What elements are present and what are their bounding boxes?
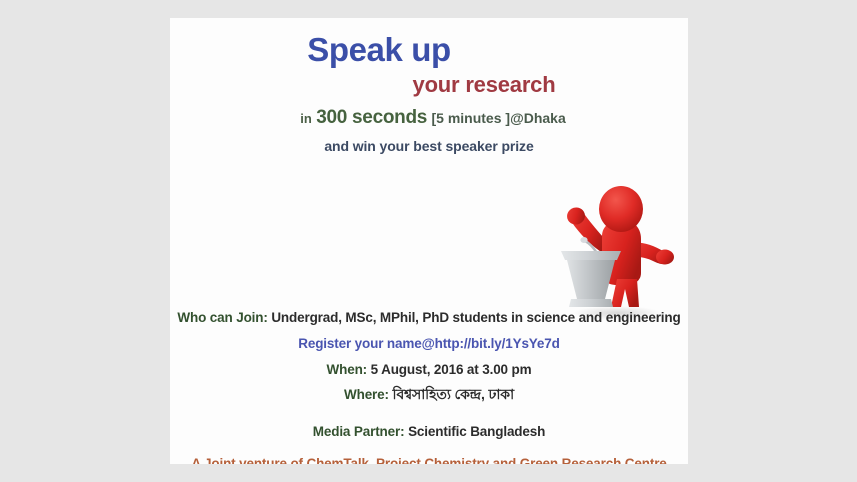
duration-note: [5 minutes ] — [431, 110, 510, 126]
register-link[interactable]: Register your name@http://bit.ly/1YsYe7d — [170, 336, 688, 351]
who-can-join-value: Undergrad, MSc, MPhil, PhD students in s… — [271, 310, 680, 325]
screenshot-canvas: Speak up your research in 300 seconds [5… — [0, 0, 857, 482]
when-line: When: 5 August, 2016 at 3.00 pm — [170, 362, 688, 377]
where-label: Where: — [344, 387, 389, 402]
duration-prefix: in — [300, 111, 312, 126]
media-partner-value: Scientific Bangladesh — [408, 424, 545, 439]
details-block: Who can Join: Undergrad, MSc, MPhil, PhD… — [170, 310, 688, 464]
duration-line: in 300 seconds [5 minutes ]@Dhaka — [170, 107, 688, 129]
where-value: বিশ্বসাহিত্য কেন্দ্র, ঢাকা — [392, 386, 514, 402]
media-partner-label: Media Partner: — [313, 424, 405, 439]
media-partner-line: Media Partner: Scientific Bangladesh — [170, 424, 688, 439]
who-can-join-label: Who can Join: — [177, 310, 267, 325]
when-label: When: — [327, 362, 368, 377]
flyer-slide: Speak up your research in 300 seconds [5… — [170, 18, 688, 464]
prize-line: and win your best speaker prize — [170, 138, 688, 154]
where-line: Where: বিশ্বসাহিত্য কেন্দ্র, ঢাকা — [170, 383, 688, 407]
duration-value: 300 seconds — [316, 107, 427, 128]
title-speak-up: Speak up — [170, 32, 688, 68]
headline-block: Speak up your research in 300 seconds [5… — [170, 18, 688, 154]
who-can-join-line: Who can Join: Undergrad, MSc, MPhil, PhD… — [170, 310, 688, 325]
subtitle-your-research: your research — [170, 72, 688, 98]
speaker-at-podium-illustration — [545, 181, 685, 321]
joint-venture-line: A Joint venture of ChemTalk, Project Che… — [170, 456, 688, 464]
duration-location: @Dhaka — [510, 110, 566, 126]
speaker-podium-icon — [545, 181, 685, 321]
when-value: 5 August, 2016 at 3.00 pm — [371, 362, 532, 377]
